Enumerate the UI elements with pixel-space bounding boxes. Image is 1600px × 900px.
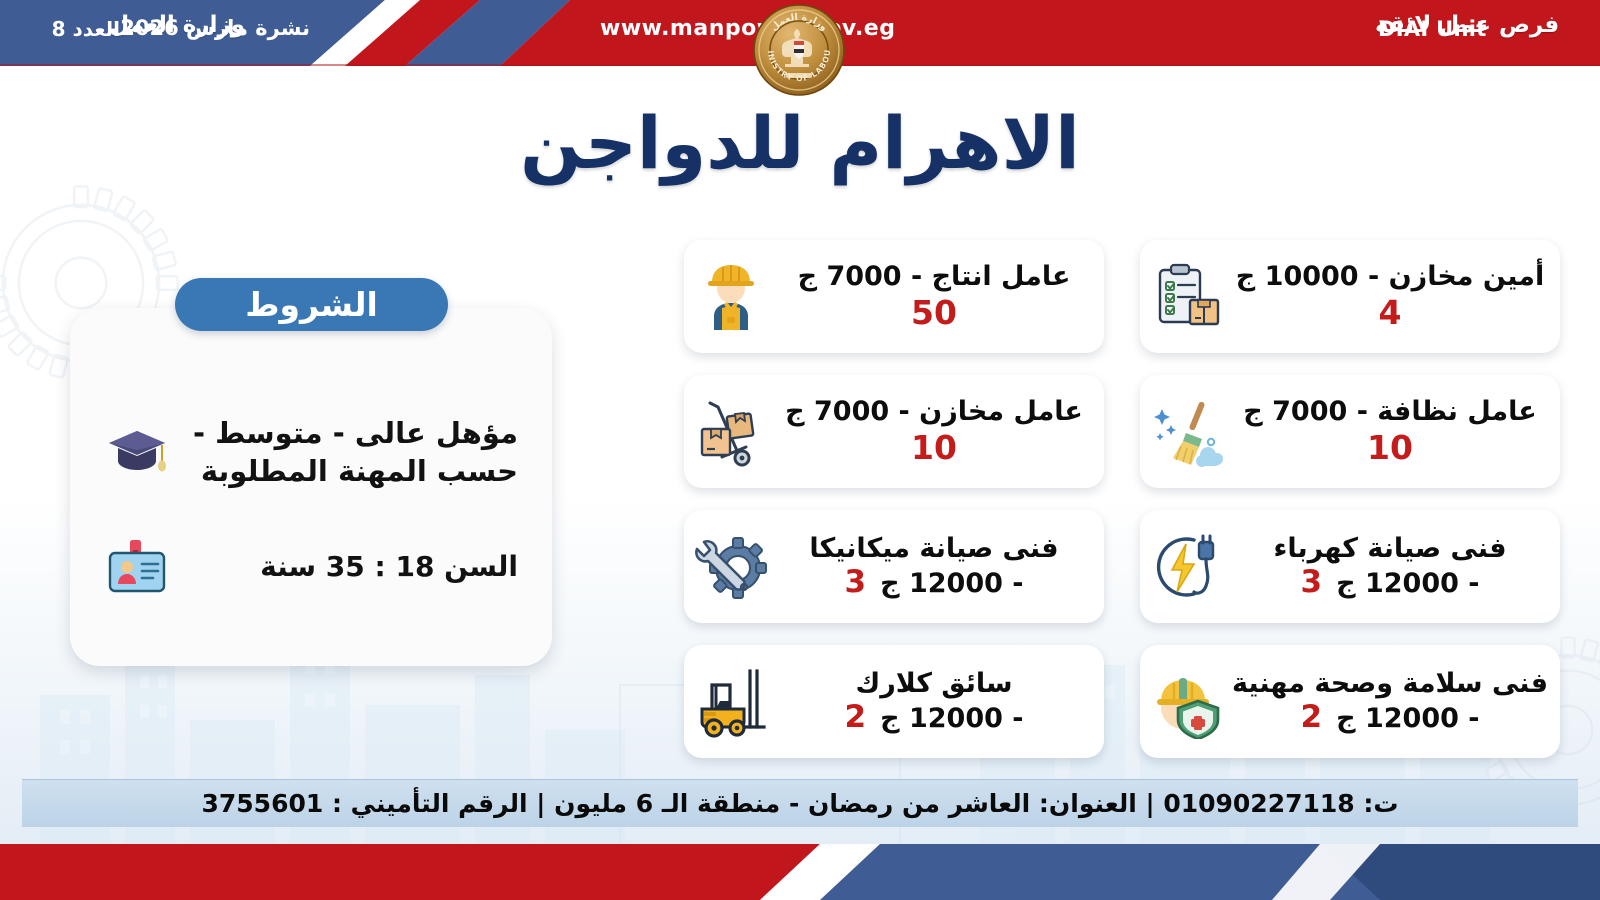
job-title-salary: عامل نظافة - 7000 ج <box>1243 396 1536 427</box>
hand-truck-boxes-icon <box>692 393 770 471</box>
broom-cleaning-icon <box>1148 393 1226 471</box>
ministry-of-labour-seal-icon: وزارة العمل MINISTRY OF LABOUR <box>744 3 854 97</box>
conditions-badge: الشروط <box>175 278 448 331</box>
construction-worker-icon <box>692 258 770 336</box>
conditions-panel: مؤهل عالى - متوسط - حسب المهنة المطلوبة … <box>70 308 552 666</box>
job-card[interactable]: سائق كلارك - 12000 ج 2 <box>684 645 1104 758</box>
job-card[interactable]: أمين مخازن - 10000 ج 4 <box>1140 240 1560 353</box>
job-count-salary: - 12000 ج 3 <box>845 565 1024 601</box>
job-vacancy-count: 2 <box>1301 700 1323 736</box>
job-card-body: عامل نظافة - 7000 ج 10 <box>1234 396 1546 467</box>
footer-band <box>0 844 1600 900</box>
job-vacancy-count: 50 <box>911 293 957 332</box>
job-title-salary: عامل انتاج - 7000 ج <box>798 261 1071 292</box>
job-salary: - 12000 ج <box>1336 568 1479 599</box>
job-vacancy-count: 2 <box>845 700 867 736</box>
footer-unit-label: DIAI Unit <box>1378 17 1487 41</box>
wrench-gear-icon <box>692 528 770 606</box>
condition-qualification-text: مؤهل عالى - متوسط - حسب المهنة المطلوبة <box>186 414 518 491</box>
job-title: فنى صيانة ميكانيكا <box>809 533 1058 564</box>
job-card[interactable]: فنى صيانة ميكانيكا - 12000 ج 3 <box>684 510 1104 623</box>
condition-item-age: السن 18 : 35 سنة <box>104 536 518 598</box>
job-cards-grid: أمين مخازن - 10000 ج 4 <box>620 240 1560 758</box>
page-title: الاهرام للدواجن <box>0 105 1600 183</box>
job-vacancy-count: 3 <box>845 565 867 601</box>
job-card-body: فنى صيانة ميكانيكا - 12000 ج 3 <box>778 533 1090 601</box>
job-card-body: فنى صيانة كهرباء - 12000 ج 3 <box>1234 533 1546 601</box>
job-card-body: فنى سلامة وصحة مهنية - 12000 ج 2 <box>1234 668 1546 736</box>
job-card-body: عامل مخازن - 7000 ج 10 <box>778 396 1090 467</box>
id-card-icon <box>104 536 170 598</box>
graduation-cap-icon <box>104 421 170 483</box>
job-title: فنى سلامة وصحة مهنية <box>1232 668 1548 699</box>
poster-canvas: فرص عمل لائقة وزارة العمل <box>0 0 1600 900</box>
job-card[interactable]: عامل انتاج - 7000 ج 50 <box>684 240 1104 353</box>
job-title: فنى صيانة كهرباء <box>1274 533 1507 564</box>
job-count-salary: - 12000 ج 3 <box>1301 565 1480 601</box>
contact-strip: ت: 01090227118 | العنوان: العاشر من رمضا… <box>22 779 1578 827</box>
job-vacancy-count: 4 <box>1379 293 1402 332</box>
safety-helmet-shield-icon <box>1148 663 1226 741</box>
job-card[interactable]: عامل مخازن - 7000 ج 10 <box>684 375 1104 488</box>
job-vacancy-count: 10 <box>1367 428 1413 467</box>
job-card[interactable]: عامل نظافة - 7000 ج 10 <box>1140 375 1560 488</box>
job-count-salary: - 12000 ج 2 <box>1301 700 1480 736</box>
job-card[interactable]: فنى سلامة وصحة مهنية - 12000 ج 2 <box>1140 645 1560 758</box>
forklift-icon <box>692 663 770 741</box>
job-count-salary: - 12000 ج 2 <box>845 700 1024 736</box>
job-card-body: أمين مخازن - 10000 ج 4 <box>1234 261 1546 332</box>
job-card-body: عامل انتاج - 7000 ج 50 <box>778 261 1090 332</box>
condition-item-qualification: مؤهل عالى - متوسط - حسب المهنة المطلوبة <box>104 414 518 491</box>
job-salary: - 12000 ج <box>880 568 1023 599</box>
footer-bulletin-date: نشرة مارس 2026 <box>120 16 310 40</box>
job-card-body: سائق كلارك - 12000 ج 2 <box>778 668 1090 736</box>
job-vacancy-count: 10 <box>911 428 957 467</box>
job-card[interactable]: فنى صيانة كهرباء - 12000 ج 3 <box>1140 510 1560 623</box>
job-salary: - 12000 ج <box>880 703 1023 734</box>
footer-issue-number: العدد 8 <box>52 17 120 41</box>
storekeeper-clipboard-icon <box>1148 258 1226 336</box>
electric-plug-bolt-icon <box>1148 528 1226 606</box>
condition-age-text: السن 18 : 35 سنة <box>186 549 518 586</box>
job-title-salary: أمين مخازن - 10000 ج <box>1236 261 1544 292</box>
job-salary: - 12000 ج <box>1336 703 1479 734</box>
job-title: سائق كلارك <box>855 668 1012 699</box>
job-title-salary: عامل مخازن - 7000 ج <box>785 396 1083 427</box>
job-vacancy-count: 3 <box>1301 565 1323 601</box>
